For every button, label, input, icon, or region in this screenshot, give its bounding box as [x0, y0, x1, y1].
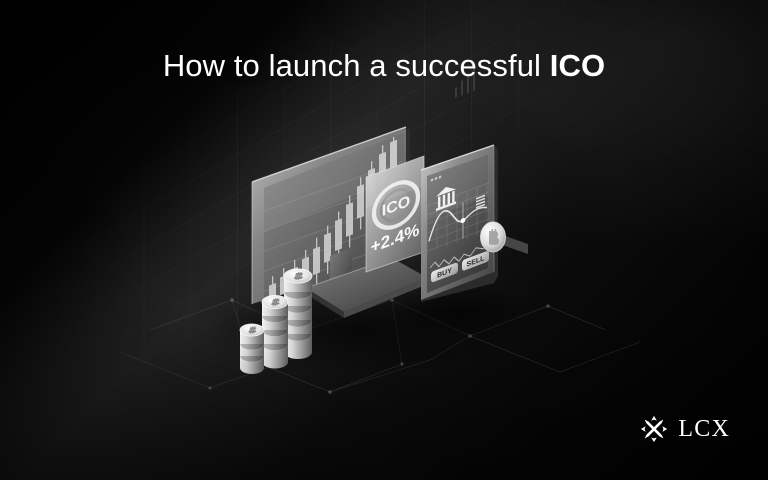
lcx-logo-text: LCX [678, 416, 730, 443]
page-title-prefix: How to launch a successful [163, 48, 550, 83]
lcx-star-mark [639, 414, 669, 444]
lcx-logo[interactable]: LCX [639, 414, 730, 444]
page-title-emphasis: ICO [550, 48, 605, 83]
page-title: How to launch a successful ICO [0, 48, 768, 84]
ico-banner: ICO +2.4% [0, 0, 768, 480]
